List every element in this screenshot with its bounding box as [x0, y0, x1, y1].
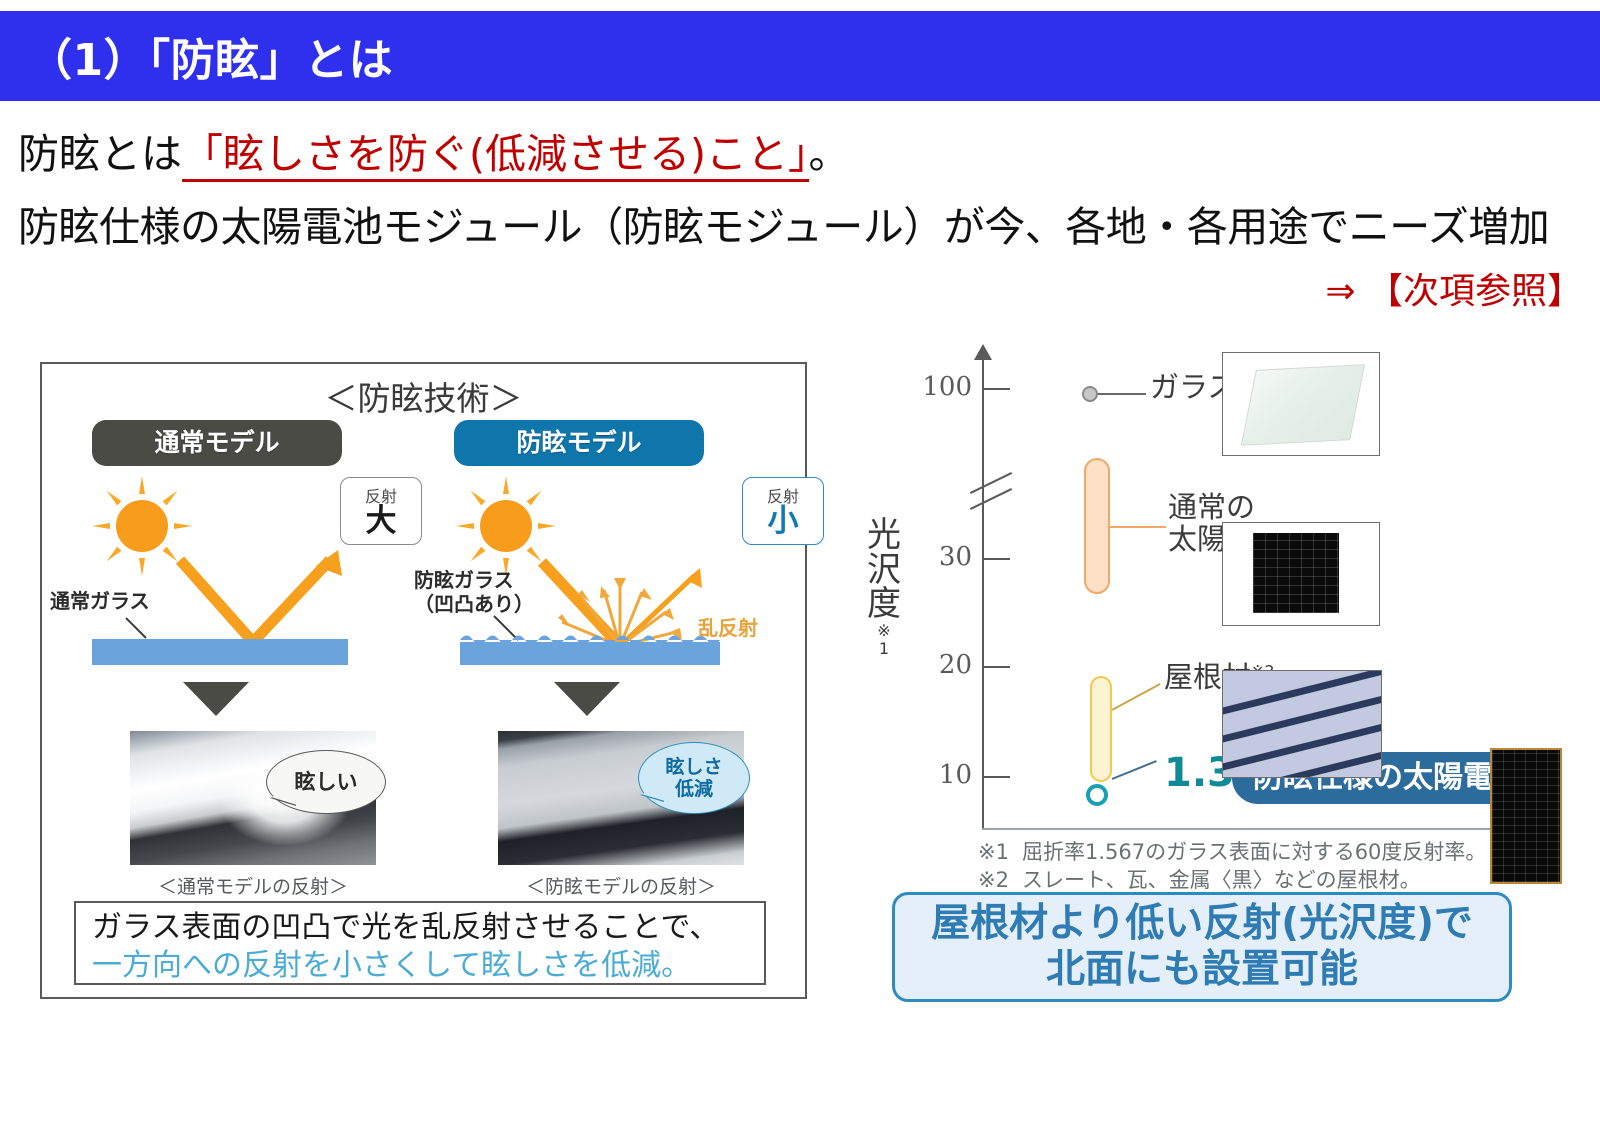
normal-pv-sample-photo — [1222, 522, 1380, 626]
antiglare-pv-data-point — [1086, 784, 1108, 806]
intro-line-2: 防眩仕様の太陽電池モジュール（防眩モジュール）が今、各地・各用途でニーズ増加 — [18, 198, 1583, 257]
summary-caption-line1: ガラス表面の凹凸で光を乱反射させることで、 — [92, 909, 764, 947]
slide-header-bar: （1）「防眩」とは — [0, 11, 1600, 101]
sun-icon — [454, 474, 558, 578]
normal-photo-caption: ＜通常モデルの反射＞ — [130, 872, 376, 899]
y-tick-label-100: 100 — [910, 372, 972, 402]
glass-sample-photo — [1222, 352, 1380, 456]
pv-cell-grid — [1253, 533, 1339, 613]
footnote-2-text: スレート、瓦、金属〈黒〉などの屋根材。 — [1022, 868, 1421, 892]
intro-text-block: 防眩とは「眩しさを防ぐ(低減させる)こと」。 防眩仕様の太陽電池モジュール（防眩… — [18, 125, 1583, 314]
normal-glass-bar — [92, 639, 348, 665]
footnote-2: ※2スレート、瓦、金属〈黒〉などの屋根材。 — [978, 866, 1578, 894]
y-axis-note-mark: ※ — [862, 622, 906, 640]
glass-legend-connector — [1098, 393, 1146, 395]
conclusion-line2: 北面にも設置可能 — [895, 947, 1509, 993]
normal-glass-label: 通常ガラス — [50, 590, 150, 614]
footnote-1: ※1屈折率1.567のガラス表面に対する60度反射率。 — [978, 838, 1578, 866]
conclusion-callout-box: 屋根材より低い反射(光沢度)で 北面にも設置可能 — [892, 892, 1512, 1002]
intro-reference: ⇒ 【次項参照】 — [18, 262, 1583, 314]
normal-reflect-box: 反射 大 — [340, 477, 422, 545]
glass-pane-shape — [1241, 364, 1365, 446]
gloss-level-chart: 光沢度 ※ 1 100 30 20 10 ガラス 通常の 太陽電池 屋根材※2 … — [860, 340, 1580, 1005]
chart-y-axis — [982, 358, 984, 830]
diffuse-reflection-label: 乱反射 — [698, 617, 758, 641]
chart-y-axis-label: 光沢度 ※ 1 — [862, 518, 906, 657]
y-tick-label-20: 20 — [910, 650, 972, 680]
antiglare-value-leader-line — [1112, 760, 1157, 780]
sun-icon — [90, 474, 194, 578]
bubble-tail — [271, 789, 297, 805]
reduce-bubble-line1: 眩しさ — [665, 756, 722, 778]
summary-caption-line2: 一方向への反射を小さくして眩しさを低減。 — [92, 947, 764, 985]
bubble-tail — [641, 787, 665, 801]
normal-pv-range-bar — [1084, 458, 1110, 594]
y-axis-note-num: 1 — [862, 640, 906, 658]
antiglare-photo-caption: ＜防眩モデルの反射＞ — [498, 872, 744, 899]
footnote-1-mark: ※1 — [978, 838, 1022, 866]
summary-caption-box: ガラス表面の凹凸で光を乱反射させることで、 一方向への反射を小さくして眩しさを低… — [74, 901, 766, 985]
antiglare-glass-label-line2: （凹凸あり） — [414, 592, 534, 616]
y-tick-10 — [984, 776, 1010, 778]
footnote-1-text: 屈折率1.567のガラス表面に対する60度反射率。 — [1022, 840, 1486, 864]
roof-material-range-bar — [1090, 676, 1112, 782]
glass-data-point — [1082, 386, 1098, 402]
antiglare-glass-label: 防眩ガラス （凹凸あり） — [414, 569, 534, 616]
antiglare-glass-label-line1: 防眩ガラス — [414, 568, 514, 592]
glare-bubble-text: 眩しい — [295, 770, 358, 794]
down-triangle-icon — [554, 682, 620, 716]
normal-pv-leader-line — [1108, 526, 1166, 528]
intro-line-1-suffix: 。 — [809, 130, 850, 178]
normal-reflect-value: 大 — [341, 507, 421, 536]
intro-line-1-prefix: 防眩とは — [18, 130, 182, 178]
intro-line-1-highlight: 「眩しさを防ぐ(低減させる)こと」 — [182, 130, 809, 182]
legend-label-normal-pv-line1: 通常の — [1168, 490, 1255, 524]
antiglare-reflect-value: 小 — [743, 507, 823, 536]
technology-heading: ＜防眩技術＞ — [42, 372, 805, 420]
roof-material-sample-photo — [1222, 670, 1382, 778]
glare-reduced-speech-bubble: 眩しさ 低減 — [638, 742, 750, 814]
antiglare-glass-bar — [460, 642, 720, 665]
y-axis-label-text: 光沢度 — [867, 515, 901, 624]
antiglare-model-badge: 防眩モデル — [454, 420, 704, 466]
y-tick-30 — [984, 558, 1010, 560]
down-triangle-icon — [183, 682, 249, 716]
footnote-2-mark: ※2 — [978, 866, 1022, 894]
y-tick-20 — [984, 666, 1010, 668]
page-title: （1）「防眩」とは — [28, 24, 393, 88]
sun-core — [116, 500, 168, 552]
antiglare-technology-panel: ＜防眩技術＞ 通常モデル 防眩モデル — [40, 362, 807, 999]
intro-line-1: 防眩とは「眩しさを防ぐ(低減させる)こと」。 — [18, 125, 1583, 184]
sun-core — [480, 500, 532, 552]
antiglare-reflect-box: 反射 小 — [742, 477, 824, 545]
chart-leader-lines — [860, 340, 1580, 900]
y-tick-100 — [984, 388, 1010, 390]
glare-speech-bubble: 眩しい — [266, 750, 386, 814]
y-tick-label-30: 30 — [910, 542, 972, 572]
y-tick-label-10: 10 — [910, 760, 972, 790]
conclusion-line1: 屋根材より低い反射(光沢度)で — [895, 901, 1509, 947]
reduce-bubble-line2: 低減 — [675, 778, 713, 800]
normal-model-badge: 通常モデル — [92, 420, 342, 466]
chart-baseline — [982, 828, 1542, 830]
chart-footnotes: ※1屈折率1.567のガラス表面に対する60度反射率。 ※2スレート、瓦、金属〈… — [978, 838, 1578, 895]
